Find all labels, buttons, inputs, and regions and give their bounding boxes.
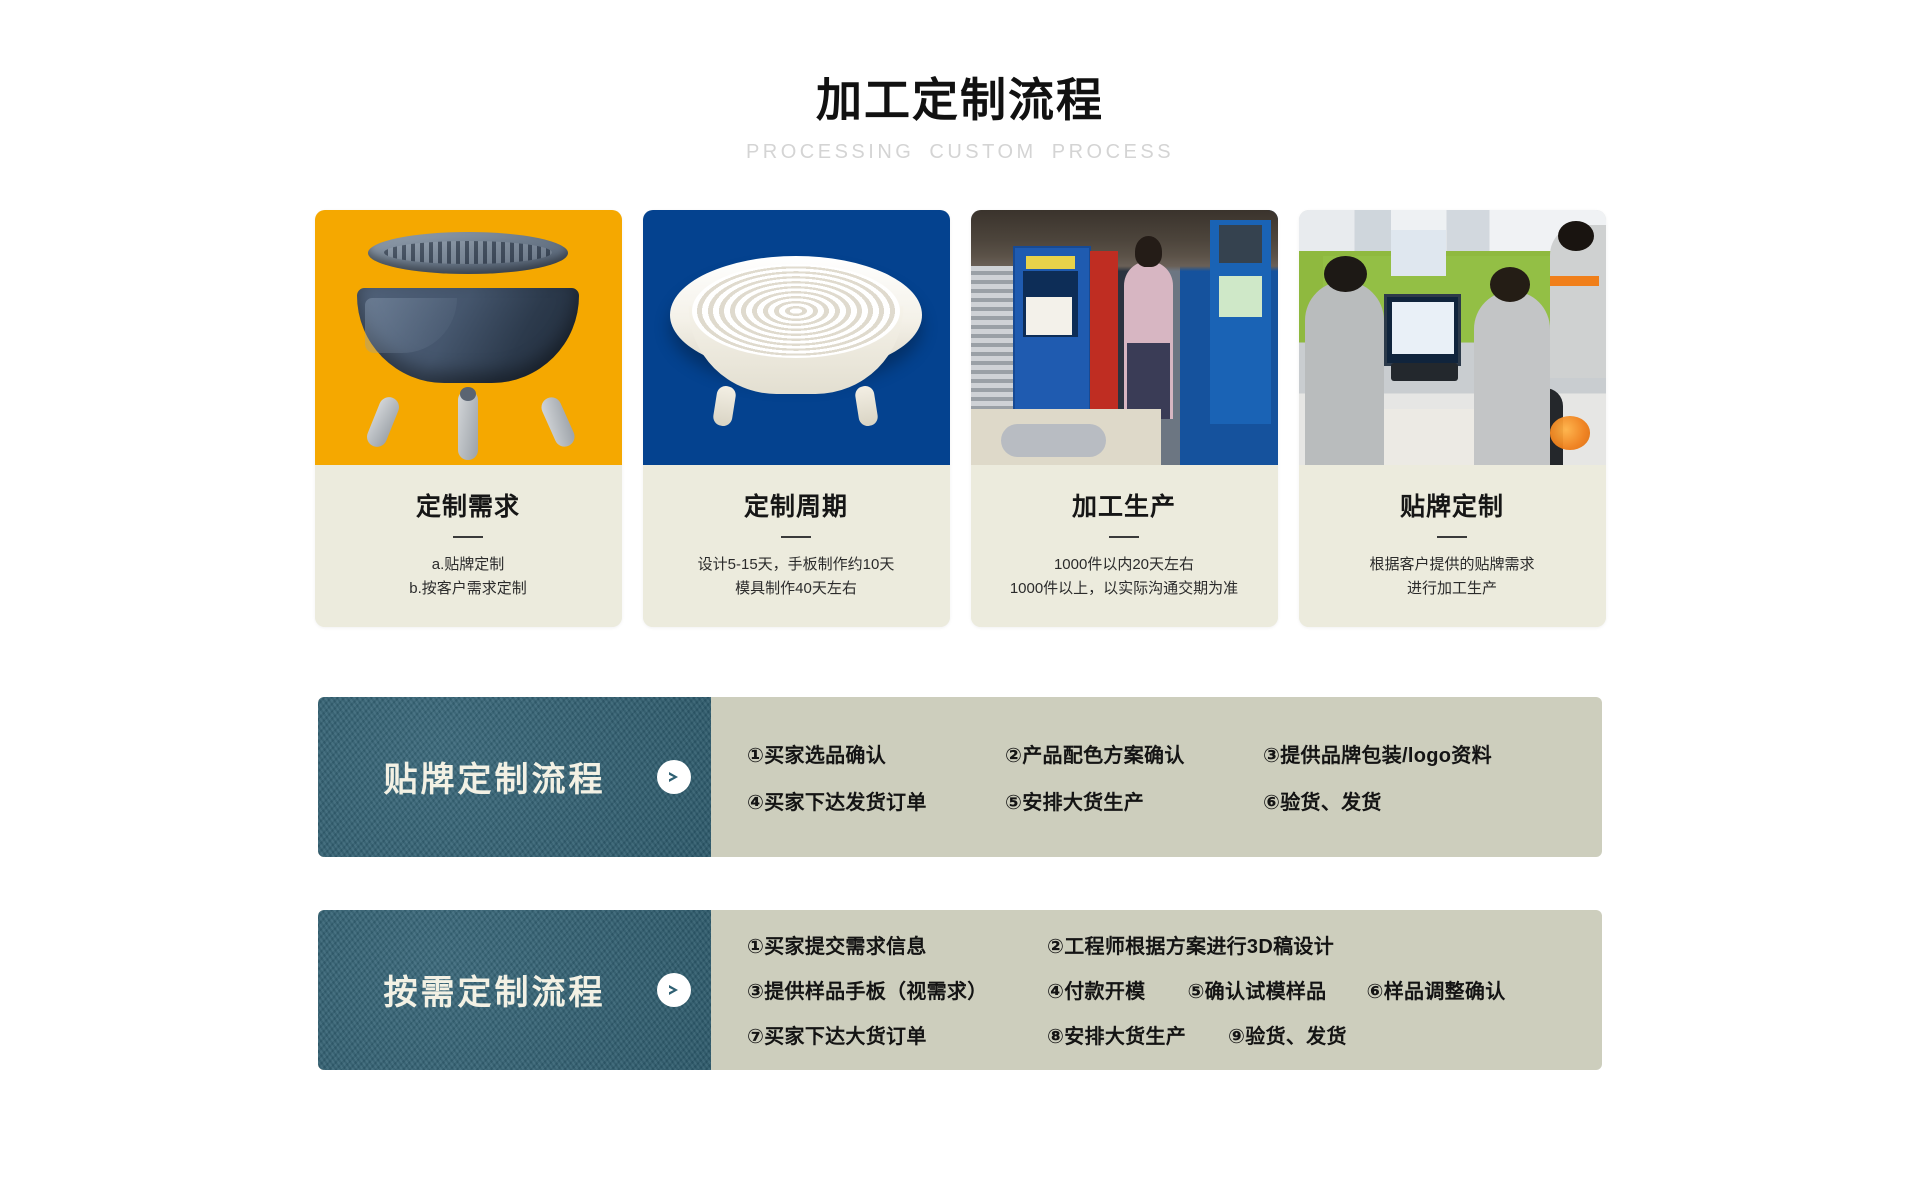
- process-step: ③提供样品手板（视需求）: [747, 975, 1047, 1004]
- card-description-line: 模具制作40天左右: [653, 577, 940, 601]
- on-demand-process-label: 按需定制流程: [318, 910, 711, 1070]
- steps-row: ④买家下达发货订单 ⑤安排大货生产 ⑥验货、发货: [747, 786, 1602, 815]
- steps-row: ⑦买家下达大货订单 ⑧安排大货生产 ⑨验货、发货: [747, 1020, 1602, 1049]
- keyboard-shape: [1391, 363, 1459, 381]
- card-body: 定制需求 a.贴牌定制 b.按客户需求定制: [315, 465, 622, 627]
- band-label-text: 按需定制流程: [384, 965, 606, 1014]
- panel-monitor-shape: [1219, 225, 1262, 263]
- process-step: ④付款开模: [1047, 975, 1145, 1004]
- card-title: 加工生产: [981, 487, 1268, 523]
- process-cards-row: 定制需求 a.贴牌定制 b.按客户需求定制 定制周期 设: [0, 210, 1920, 627]
- steps-row: ①买家提交需求信息 ②工程师根据方案进行3D稿设计: [747, 930, 1602, 959]
- panel-screen-shape: [1219, 276, 1262, 317]
- prototype-foot-left-shape: [711, 385, 736, 427]
- process-step: ①买家提交需求信息: [747, 930, 1047, 959]
- card-body: 定制周期 设计5-15天，手板制作约10天 模具制作40天左右: [643, 465, 950, 627]
- card-description-line: a.贴牌定制: [325, 553, 612, 577]
- person-left-shape: [1305, 281, 1385, 465]
- wall-board-shape: [1391, 230, 1446, 276]
- factory-production-photo: [971, 210, 1278, 465]
- process-step: ⑥验货、发货: [1263, 786, 1382, 815]
- card-title: 贴牌定制: [1309, 487, 1596, 523]
- card-description: a.贴牌定制 b.按客户需求定制: [325, 553, 612, 601]
- page-header: 加工定制流程 PROCESSING CUSTOM PROCESS: [0, 0, 1920, 164]
- card-description-line: b.按客户需求定制: [325, 577, 612, 601]
- exploded-grill-product-image: [315, 210, 622, 465]
- on-demand-process-steps: ①买家提交需求信息 ②工程师根据方案进行3D稿设计 ③提供样品手板（视需求） ④…: [711, 910, 1602, 1070]
- process-card-custom-cycle[interactable]: 定制周期 设计5-15天，手板制作约10天 模具制作40天左右: [643, 210, 950, 627]
- process-step: ⑥样品调整确认: [1366, 975, 1505, 1004]
- process-step: ⑤确认试模样品: [1187, 975, 1326, 1004]
- card-divider: [1109, 536, 1139, 538]
- person-right-shape: [1474, 291, 1551, 464]
- warning-sign-shape: [1026, 297, 1072, 335]
- card-body: 加工生产 1000件以内20天左右 1000件以上，以实际沟通交期为准: [971, 465, 1278, 627]
- red-press-shape: [1090, 251, 1118, 419]
- prototype-rings-shape: [692, 264, 900, 358]
- grill-leg-center-shape: [458, 390, 478, 460]
- oem-process-label: 贴牌定制流程: [318, 697, 711, 857]
- page-subtitle: PROCESSING CUSTOM PROCESS: [0, 141, 1920, 164]
- card-description: 根据客户提供的贴牌需求 进行加工生产: [1309, 553, 1596, 601]
- process-step: ④买家下达发货订单: [747, 786, 1005, 815]
- steps-row: ③提供样品手板（视需求） ④付款开模 ⑤确认试模样品 ⑥样品调整确认: [747, 975, 1602, 1004]
- oem-process-band: 贴牌定制流程 ①买家选品确认 ②产品配色方案确认 ③提供品牌包装/logo资料 …: [318, 697, 1602, 857]
- process-step: ①买家选品确认: [747, 739, 1005, 768]
- card-description-line: 根据客户提供的贴牌需求: [1309, 553, 1596, 577]
- page-title: 加工定制流程: [0, 74, 1920, 127]
- card-title: 定制周期: [653, 487, 940, 523]
- card-title: 定制需求: [325, 487, 612, 523]
- grill-leg-left-shape: [363, 394, 401, 450]
- process-step: ③提供品牌包装/logo资料: [1263, 739, 1492, 768]
- card-description-line: 1000件以上，以实际沟通交期为准: [981, 577, 1268, 601]
- brand-watermark-logo: [1550, 416, 1590, 449]
- card-description-line: 设计5-15天，手板制作约10天: [653, 553, 940, 577]
- card-divider: [453, 536, 483, 538]
- process-card-custom-requirement[interactable]: 定制需求 a.贴牌定制 b.按客户需求定制: [315, 210, 622, 627]
- machine-label-shape: [1026, 256, 1075, 269]
- worker-figure-shape: [1124, 261, 1173, 419]
- cad-monitor-shape: [1384, 294, 1461, 366]
- chevron-right-icon: [657, 973, 691, 1007]
- process-card-production[interactable]: 加工生产 1000件以内20天左右 1000件以上，以实际沟通交期为准: [971, 210, 1278, 627]
- orange-collar-shape: [1550, 276, 1599, 286]
- person-standing-shape: [1550, 225, 1605, 378]
- stacked-parts-shape: [971, 266, 1014, 409]
- chevron-right-icon: [657, 760, 691, 794]
- process-step: ⑤安排大货生产: [1005, 786, 1263, 815]
- card-divider: [1437, 536, 1467, 538]
- process-step: ⑦买家下达大货订单: [747, 1020, 1047, 1049]
- prototype-foot-right-shape: [853, 385, 878, 427]
- band-label-text: 贴牌定制流程: [384, 752, 606, 801]
- card-description: 设计5-15天，手板制作约10天 模具制作40天左右: [653, 553, 940, 601]
- processing-custom-process-page: 加工定制流程 PROCESSING CUSTOM PROCESS 定制需求 a.…: [0, 0, 1920, 1200]
- card-divider: [781, 536, 811, 538]
- process-step: ②产品配色方案确认: [1005, 739, 1263, 768]
- process-step: ⑧安排大货生产: [1047, 1020, 1186, 1049]
- office-design-team-photo: [1299, 210, 1606, 465]
- process-step: ⑨验货、发货: [1228, 1020, 1347, 1049]
- grill-leg-right-shape: [538, 394, 577, 450]
- card-description-line: 进行加工生产: [1309, 577, 1596, 601]
- card-description: 1000件以内20天左右 1000件以上，以实际沟通交期为准: [981, 553, 1268, 601]
- molded-part-shape: [1001, 424, 1105, 457]
- card-description-line: 1000件以内20天左右: [981, 553, 1268, 577]
- process-step: ②工程师根据方案进行3D稿设计: [1047, 930, 1334, 959]
- white-prototype-product-image: [643, 210, 950, 465]
- oem-process-steps: ①买家选品确认 ②产品配色方案确认 ③提供品牌包装/logo资料 ④买家下达发货…: [711, 697, 1602, 857]
- steps-row: ①买家选品确认 ②产品配色方案确认 ③提供品牌包装/logo资料: [747, 739, 1602, 768]
- on-demand-process-band: 按需定制流程 ①买家提交需求信息 ②工程师根据方案进行3D稿设计 ③提供样品手板…: [318, 910, 1602, 1070]
- process-card-oem-custom[interactable]: 贴牌定制 根据客户提供的贴牌需求 进行加工生产: [1299, 210, 1606, 627]
- grill-bowl-shape: [357, 288, 579, 383]
- card-body: 贴牌定制 根据客户提供的贴牌需求 进行加工生产: [1299, 465, 1606, 627]
- grill-lid-shape: [368, 232, 568, 274]
